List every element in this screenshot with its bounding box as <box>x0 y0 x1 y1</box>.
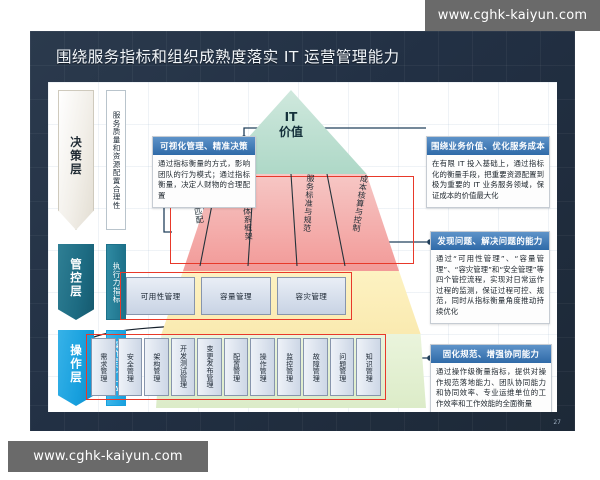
callout-visual-management-body: 通过指标衡量的方式，影响团队的行为模式；通过指标衡量，决定人财物的合理配置 <box>153 155 255 203</box>
process-box-demand-label: 需求管理 <box>100 353 107 382</box>
slide-frame: 围绕服务指标和组织成熟度落实 IT 运营管理能力 27 <box>30 31 575 431</box>
process-box-disaster-recovery[interactable]: 容灾管理 <box>277 277 346 315</box>
level-arrow-operation-label: 操作层 <box>70 344 82 385</box>
process-box-configuration[interactable]: 配置管理 <box>224 338 249 396</box>
control-process-row: 可用性管理 容量管理 容灾管理 <box>121 273 351 319</box>
level-arrow-control-label: 管控层 <box>70 258 82 299</box>
process-box-operation[interactable]: 操作管理 <box>250 338 275 396</box>
process-box-knowledge-label: 知识管理 <box>365 353 372 382</box>
watermark-bottom: www.cghk-kaiyun.com <box>8 441 208 472</box>
level-arrow-control[interactable]: 管控层 <box>58 244 94 320</box>
level-caption-decision-label: 服务质量和资源配置合理性 <box>112 111 120 209</box>
process-box-knowledge[interactable]: 知识管理 <box>356 338 381 396</box>
process-box-fault-label: 故障管理 <box>312 353 319 382</box>
wedge-cost-control: 成本核算与控制 <box>335 172 379 268</box>
callout-business-value-body: 在有限 IT 投入基础上，通过指标化的衡量手段，把重要资源配置到极为重要的 IT… <box>427 155 549 203</box>
process-box-capacity[interactable]: 容量管理 <box>201 277 270 315</box>
level-caption-decision: 服务质量和资源配置合理性 <box>106 90 126 230</box>
wedge-label-3: 成本核算与控制 <box>351 174 368 233</box>
wedge-label-2: 服务标准与规范 <box>302 174 314 233</box>
process-box-dev-test-label: 开发测试管理 <box>179 345 186 388</box>
callout-standardization-body: 通过操作级衡量指标，提供对操作规范落地能力、团队协同能力和协同效率、专业运维单位… <box>431 363 551 411</box>
level-arrow-decision-label: 决策层 <box>70 136 82 177</box>
page-title: 围绕服务指标和组织成熟度落实 IT 运营管理能力 <box>56 45 400 67</box>
callout-problem-solving: 发现问题、解决问题的能力 通过“可用性管理”、“容量管理”、“容灾管理”和“安全… <box>430 231 550 324</box>
process-box-demand[interactable]: 需求管理 <box>91 338 116 396</box>
process-box-monitoring[interactable]: 监控管理 <box>277 338 302 396</box>
watermark-top: www.cghk-kaiyun.com <box>425 0 600 31</box>
pyramid-apex-line1: IT <box>279 110 303 125</box>
pyramid-apex-label: IT 价值 <box>279 110 303 140</box>
process-box-monitoring-label: 监控管理 <box>286 353 293 382</box>
screenshot-root: 围绕服务指标和组织成熟度落实 IT 运营管理能力 27 <box>0 0 600 480</box>
process-box-change-release-label: 变更发布管理 <box>206 345 213 388</box>
callout-business-value-title: 围绕业务价值、优化服务成本 <box>427 137 549 155</box>
level-arrow-decision[interactable]: 决策层 <box>58 90 94 230</box>
process-box-architecture[interactable]: 架构管理 <box>144 338 169 396</box>
callout-problem-solving-body: 通过“可用性管理”、“容量管理”、“容灾管理”和“安全管理”等四个管控流程，实现… <box>431 250 549 319</box>
operation-process-group: 需求管理 安全管理 架构管理 开发测试管理 变更发布管理 配置管理 操作管理 监… <box>86 334 386 400</box>
callout-problem-solving-title: 发现问题、解决问题的能力 <box>431 232 549 250</box>
operation-process-row: 需求管理 安全管理 架构管理 开发测试管理 变更发布管理 配置管理 操作管理 监… <box>87 335 385 399</box>
process-box-architecture-label: 架构管理 <box>153 353 160 382</box>
page-number: 27 <box>553 419 561 426</box>
process-box-security-label: 安全管理 <box>126 353 133 382</box>
process-box-security[interactable]: 安全管理 <box>118 338 143 396</box>
process-box-configuration-label: 配置管理 <box>232 353 239 382</box>
pyramid-apex-line2: 价值 <box>279 125 303 140</box>
process-box-operation-label: 操作管理 <box>259 353 266 382</box>
control-process-group: 可用性管理 容量管理 容灾管理 <box>120 272 352 320</box>
process-box-change-release[interactable]: 变更发布管理 <box>197 338 222 396</box>
process-box-problem-label: 问题管理 <box>339 353 346 382</box>
process-box-dev-test[interactable]: 开发测试管理 <box>171 338 196 396</box>
wedge-service-standard: 服务标准与规范 <box>289 173 325 267</box>
diagram-canvas: 决策层 管控层 操作层 服务质量和资源配置合理性 执行力指标 操作层OLA <box>48 82 557 412</box>
callout-business-value: 围绕业务价值、优化服务成本 在有限 IT 投入基础上，通过指标化的衡量手段，把重… <box>426 136 550 208</box>
process-box-problem[interactable]: 问题管理 <box>330 338 355 396</box>
callout-visual-management: 可视化管理、精准决策 通过指标衡量的方式，影响团队的行为模式；通过指标衡量，决定… <box>152 136 256 208</box>
process-box-fault[interactable]: 故障管理 <box>303 338 328 396</box>
callout-standardization: 固化规范、增强协同能力 通过操作级衡量指标，提供对操作规范落地能力、团队协同能力… <box>430 344 552 412</box>
process-box-availability[interactable]: 可用性管理 <box>126 277 195 315</box>
level-caption-control-label: 执行力指标 <box>112 262 120 303</box>
callout-visual-management-title: 可视化管理、精准决策 <box>153 137 255 155</box>
callout-standardization-title: 固化规范、增强协同能力 <box>431 345 551 363</box>
